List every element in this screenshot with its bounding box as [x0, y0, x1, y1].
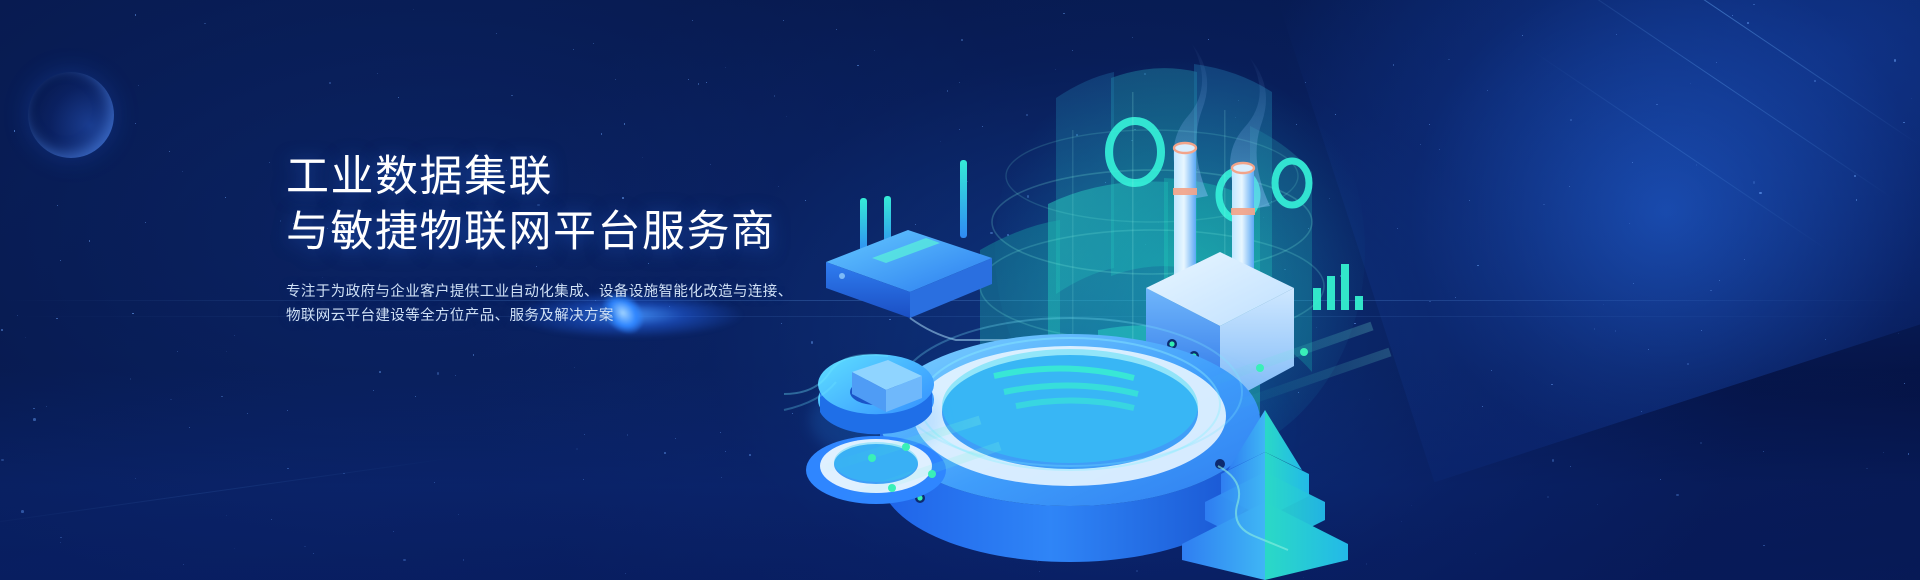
star: [182, 171, 183, 172]
headline-line-1: 工业数据集联: [286, 150, 846, 205]
star: [25, 337, 26, 338]
star: [177, 351, 179, 353]
star: [511, 95, 512, 96]
star: [601, 133, 603, 135]
star: [135, 14, 137, 16]
star: [56, 318, 58, 320]
star: [725, 67, 726, 68]
star: [57, 205, 58, 206]
subtitle-line-1: 专注于为政府与企业客户提供工业自动化集成、设备设施智能化改造与连接、: [286, 280, 814, 304]
star: [135, 123, 136, 124]
star: [1, 329, 3, 331]
star: [145, 222, 146, 223]
star: [706, 82, 707, 83]
star: [413, 9, 414, 10]
star: [774, 95, 776, 97]
headline-line-2: 与敏捷物联网平台服务商: [286, 205, 846, 260]
star: [169, 151, 170, 152]
moon-icon: [28, 72, 114, 158]
star: [60, 260, 61, 261]
star: [269, 162, 270, 163]
hero-banner: 工业数据集联 与敏捷物联网平台服务商 专注于为政府与企业客户提供工业自动化集成、…: [0, 0, 1920, 580]
star: [280, 220, 281, 221]
star: [574, 367, 575, 368]
star: [89, 240, 91, 242]
subtitle-line-2: 物联网云平台建设等全方位产品、服务及解决方案: [286, 304, 814, 328]
star: [496, 33, 497, 34]
star: [398, 97, 399, 98]
star: [593, 43, 594, 44]
star: [204, 23, 206, 25]
star: [234, 335, 235, 336]
star: [329, 82, 331, 84]
star: [225, 197, 226, 198]
star: [615, 79, 616, 80]
star: [698, 83, 699, 84]
star: [14, 130, 16, 132]
star: [688, 79, 689, 80]
star: [132, 313, 133, 314]
illustration: [780, 0, 1920, 580]
star: [226, 351, 227, 352]
star: [138, 85, 139, 86]
star: [692, 20, 693, 21]
star: [624, 123, 626, 125]
star: [573, 49, 574, 50]
hero-copy: 工业数据集联 与敏捷物联网平台服务商 专注于为政府与企业客户提供工业自动化集成、…: [286, 150, 846, 328]
star: [377, 73, 378, 74]
hero-subtitle: 专注于为政府与企业客户提供工业自动化集成、设备设施智能化改造与连接、 物联网云平…: [286, 280, 814, 328]
star: [473, 354, 475, 356]
